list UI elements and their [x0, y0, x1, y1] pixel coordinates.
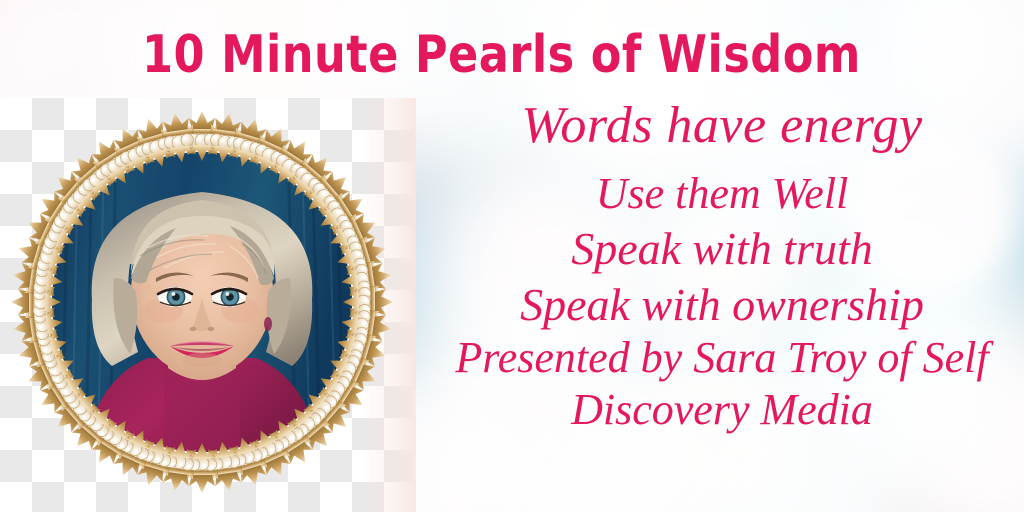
message-line-2: Use them Well	[420, 172, 1024, 216]
message-line-4: Speak with ownership	[420, 282, 1024, 328]
page-title: 10 Minute Pearls of Wisdom	[142, 24, 861, 84]
message-line-5: Presented by Sara Troy of Self	[420, 336, 1024, 380]
message-line-3: Speak with truth	[420, 226, 1024, 272]
gold-pearl-frame	[0, 100, 404, 504]
message-block: Words have energy Use them Well Speak wi…	[420, 100, 1024, 432]
message-line-6: Discovery Media	[420, 388, 1024, 432]
promo-graphic: 10 Minute Pearls of Wisdom Words have en…	[0, 0, 1024, 512]
portrait-medallion	[0, 92, 412, 512]
message-line-1: Words have energy	[420, 100, 1024, 152]
